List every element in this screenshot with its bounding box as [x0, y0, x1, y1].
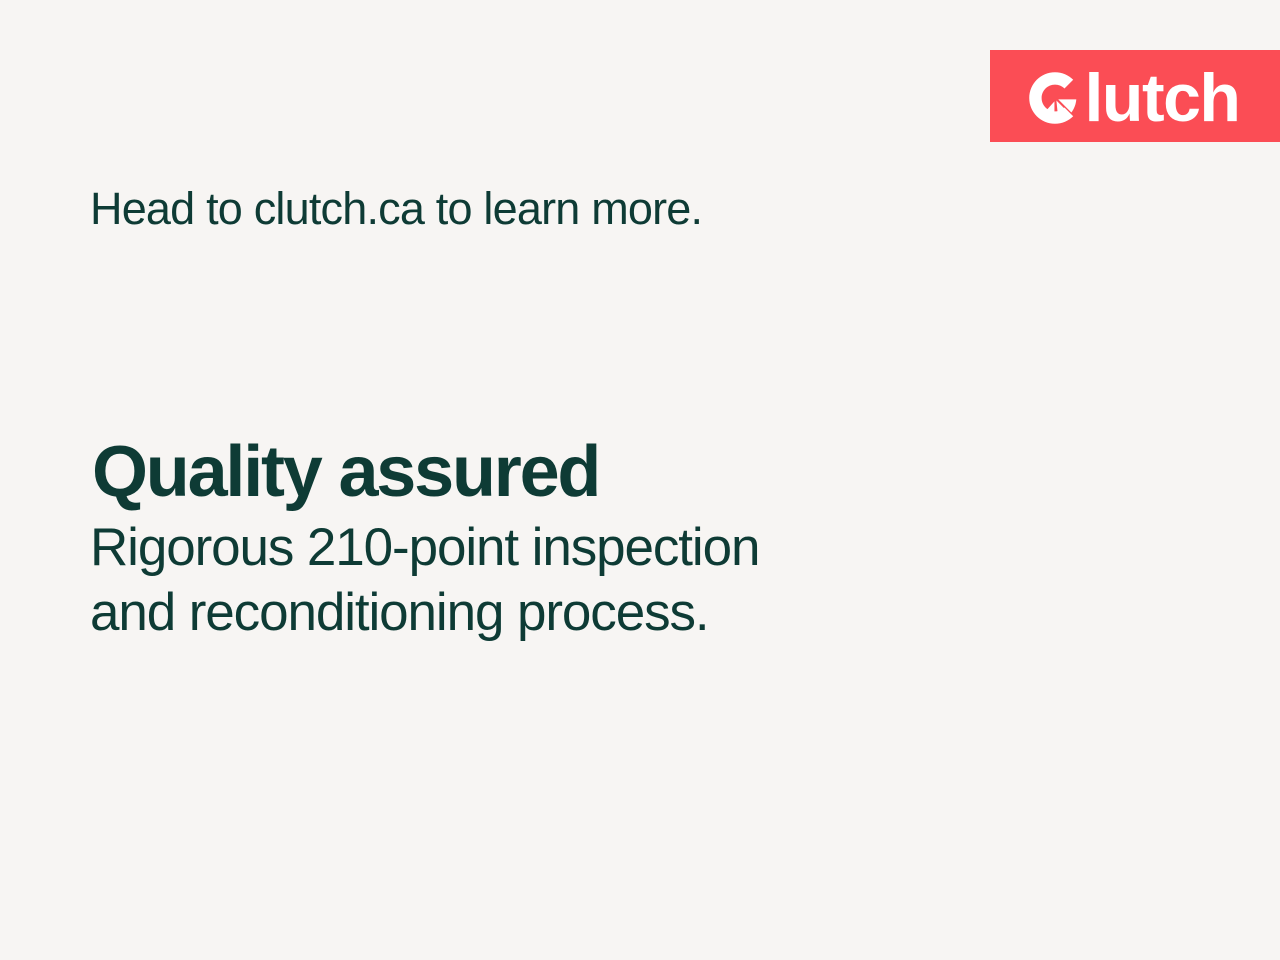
subcopy-line-2: and reconditioning process.: [90, 581, 1090, 646]
kicker-text: Head to clutch.ca to learn more.: [90, 183, 702, 235]
message-block: Quality assured Rigorous 210-point inspe…: [90, 434, 1090, 646]
promo-slide: lutch Head to clutch.ca to learn more. Q…: [0, 0, 1280, 960]
subcopy: Rigorous 210-point inspection and recond…: [90, 516, 1090, 645]
clutch-wordmark: lutch: [1085, 71, 1240, 127]
clutch-c-wheel-icon: [1027, 70, 1083, 126]
clutch-logo-lockup: lutch: [1027, 65, 1240, 127]
subcopy-line-1: Rigorous 210-point inspection: [90, 516, 1090, 581]
clutch-brand-banner: lutch: [990, 50, 1280, 142]
headline: Quality assured: [92, 434, 1090, 510]
